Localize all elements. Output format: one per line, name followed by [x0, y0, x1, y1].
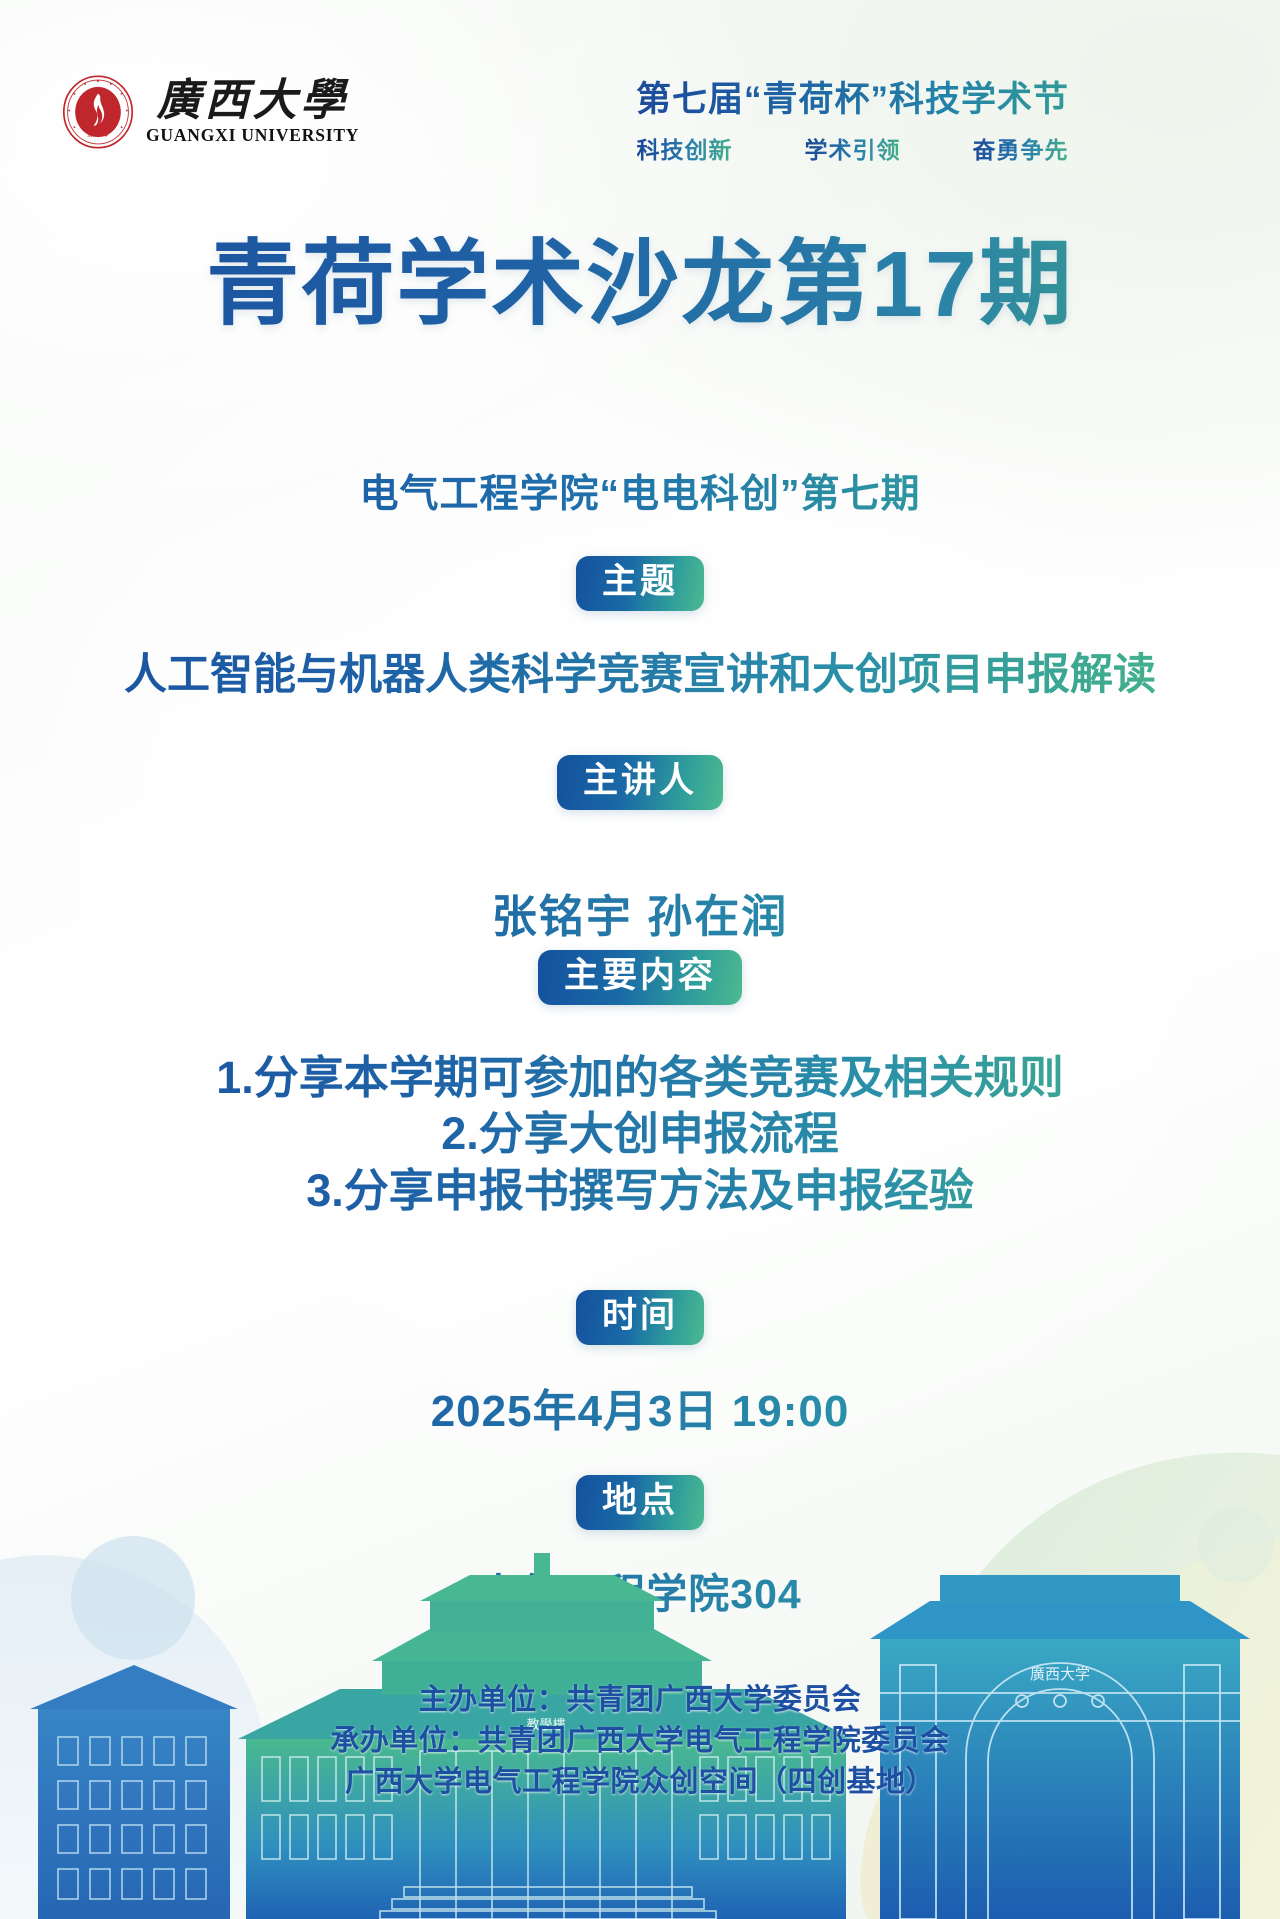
- time-badge: 时间: [576, 1290, 704, 1345]
- guangxi-university-seal-icon: 廣西大學: [60, 74, 136, 150]
- content-item-1: 1.分享本学期可参加的各类竞赛及相关规则: [0, 1050, 1280, 1106]
- theme-badge-row: 主题: [0, 556, 1280, 611]
- content-list: 1.分享本学期可参加的各类竞赛及相关规则 2.分享大创申报流程 3.分享申报书撰…: [0, 1050, 1280, 1219]
- page-title: 青荷学术沙龙第17期: [0, 236, 1280, 334]
- university-name-block: 廣西大學 GUANGXI UNIVERSITY: [146, 78, 359, 146]
- festival-slogan-3: 奋勇争先: [973, 131, 1069, 165]
- time-badge-row: 时间: [0, 1290, 1280, 1345]
- speaker-badge-row: 主讲人: [0, 755, 1280, 810]
- content-badge-row: 主要内容: [0, 950, 1280, 1005]
- university-logo: 廣西大學 廣西大學 GUANGXI UNIVERSITY: [60, 74, 359, 150]
- university-name-en: GUANGXI UNIVERSITY: [146, 125, 359, 146]
- speaker-names: 张铭宇 孙在润: [0, 880, 1280, 945]
- content-item-2: 2.分享大创申报流程: [0, 1106, 1280, 1162]
- organizer-line-2: 承办单位：共青团广西大学电气工程学院委员会: [0, 1721, 1280, 1762]
- time-text: 2025年4月3日 19:00: [0, 1375, 1280, 1439]
- theme-badge: 主题: [576, 556, 704, 611]
- university-name-cn: 廣西大學: [157, 78, 349, 124]
- content-item-3: 3.分享申报书撰写方法及申报经验: [0, 1163, 1280, 1219]
- organizer-line-1: 主办单位：共青团广西大学委员会: [0, 1680, 1280, 1721]
- poster-header: 廣西大學 廣西大學 GUANGXI UNIVERSITY 第七届“青荷杯”科技学…: [0, 62, 1280, 192]
- festival-block: 第七届“青荷杯”科技学术节 科技创新 学术引领 奋勇争先: [465, 78, 1240, 165]
- poster-canvas: 廣西大學 廣西大學 GUANGXI UNIVERSITY 第七届“青荷杯”科技学…: [0, 0, 1280, 1919]
- theme-text: 人工智能与机器人类科学竞赛宣讲和大创项目申报解读: [0, 640, 1280, 702]
- speaker-badge: 主讲人: [557, 755, 723, 810]
- content-badge: 主要内容: [538, 950, 742, 1005]
- organizers-block: 主办单位：共青团广西大学委员会 承办单位：共青团广西大学电气工程学院委员会 广西…: [0, 1680, 1280, 1804]
- festival-slogan-1: 科技创新: [637, 131, 733, 165]
- page-subtitle: 电气工程学院“电电科创”第七期: [0, 463, 1280, 519]
- festival-slogans: 科技创新 学术引领 奋勇争先: [465, 131, 1240, 165]
- organizer-line-3: 广西大学电气工程学院众创空间（四创基地）: [0, 1762, 1280, 1803]
- festival-slogan-2: 学术引领: [805, 131, 901, 165]
- festival-title: 第七届“青荷杯”科技学术节: [465, 78, 1240, 122]
